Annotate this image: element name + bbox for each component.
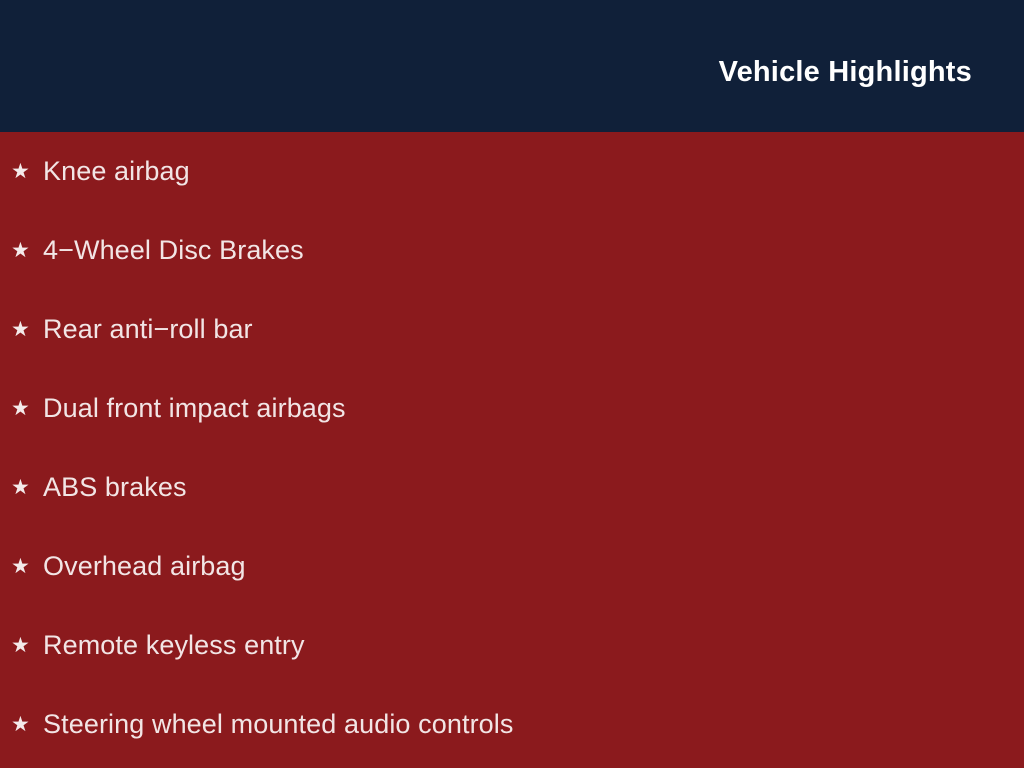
vehicle-highlights-slide: Vehicle Highlights ★ Knee airbag ★ 4−Whe… <box>0 0 1024 768</box>
list-item[interactable]: ★ Rear anti−roll bar <box>0 290 1024 369</box>
star-bullet-icon: ★ <box>11 714 35 735</box>
list-item[interactable]: ★ Overhead airbag <box>0 527 1024 606</box>
list-item[interactable]: ★ 4−Wheel Disc Brakes <box>0 211 1024 290</box>
list-item[interactable]: ★ Steering wheel mounted audio controls <box>0 685 1024 764</box>
star-bullet-icon: ★ <box>11 319 35 340</box>
list-item-label: ABS brakes <box>43 472 187 503</box>
list-item-label: Remote keyless entry <box>43 630 305 661</box>
star-bullet-icon: ★ <box>11 240 35 261</box>
header-band: Vehicle Highlights <box>0 0 1024 132</box>
page-title: Vehicle Highlights <box>719 58 1024 87</box>
star-bullet-icon: ★ <box>11 556 35 577</box>
list-item-label: Steering wheel mounted audio controls <box>43 709 514 740</box>
list-item-label: Overhead airbag <box>43 551 246 582</box>
list-item[interactable]: ★ Knee airbag <box>0 132 1024 211</box>
list-item[interactable]: ★ Remote keyless entry <box>0 606 1024 685</box>
list-item[interactable]: ★ Dual front impact airbags <box>0 369 1024 448</box>
star-bullet-icon: ★ <box>11 477 35 498</box>
star-bullet-icon: ★ <box>11 161 35 182</box>
star-bullet-icon: ★ <box>11 635 35 656</box>
vehicle-highlights-list: ★ Knee airbag ★ 4−Wheel Disc Brakes ★ Re… <box>0 132 1024 764</box>
list-item-label: Dual front impact airbags <box>43 393 346 424</box>
highlights-body: ★ Knee airbag ★ 4−Wheel Disc Brakes ★ Re… <box>0 132 1024 768</box>
list-item-label: Knee airbag <box>43 156 190 187</box>
list-item-label: Rear anti−roll bar <box>43 314 253 345</box>
list-item-label: 4−Wheel Disc Brakes <box>43 235 304 266</box>
list-item[interactable]: ★ ABS brakes <box>0 448 1024 527</box>
star-bullet-icon: ★ <box>11 398 35 419</box>
